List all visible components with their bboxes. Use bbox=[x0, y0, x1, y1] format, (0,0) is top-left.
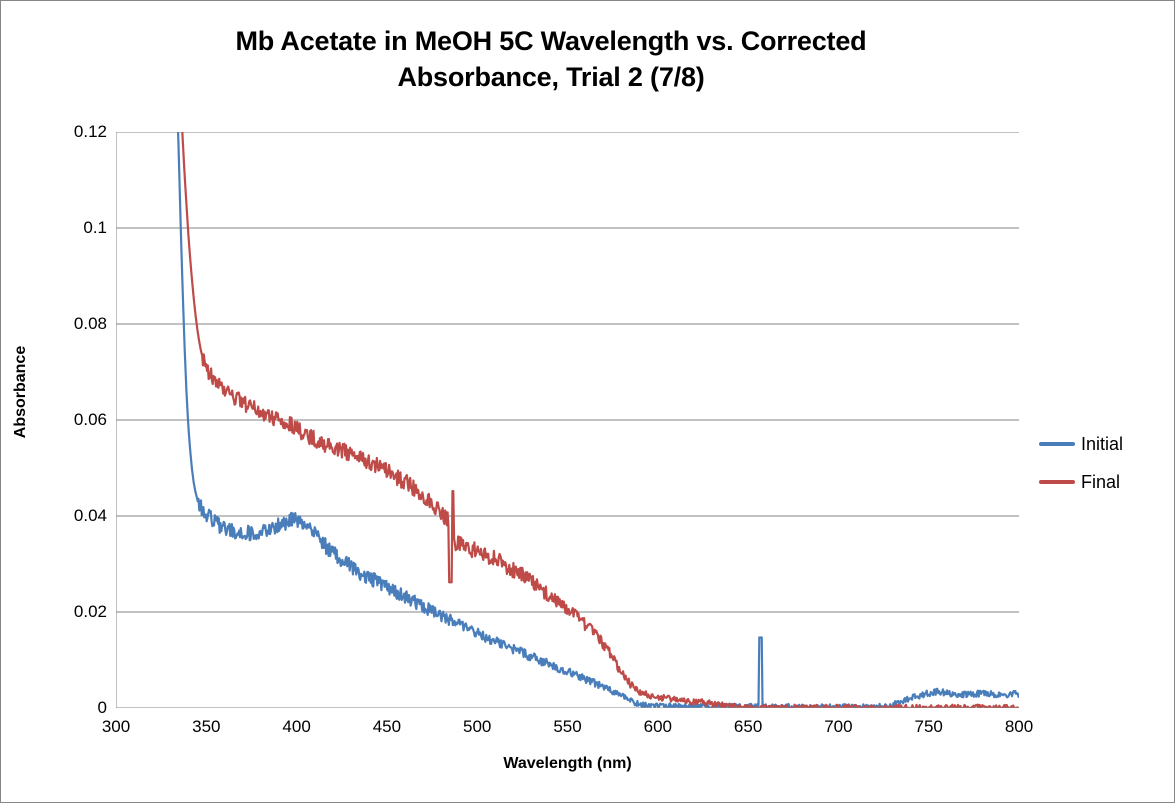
gridlines bbox=[116, 132, 1019, 708]
plot-area bbox=[116, 132, 1019, 708]
x-axis-tick-labels: 300350400450500550600650700750800 bbox=[116, 717, 1019, 743]
x-tick-label: 500 bbox=[437, 717, 517, 737]
legend-label-initial: Initial bbox=[1081, 434, 1123, 455]
legend-swatch-final bbox=[1039, 480, 1075, 484]
x-tick-label: 450 bbox=[347, 717, 427, 737]
y-tick-label: 0.02 bbox=[47, 602, 107, 622]
x-tick-label: 550 bbox=[528, 717, 608, 737]
y-tick-label: 0.08 bbox=[47, 314, 107, 334]
x-tick-label: 600 bbox=[618, 717, 698, 737]
x-tick-label: 650 bbox=[708, 717, 788, 737]
y-axis-tick-labels: 00.020.040.060.080.10.12 bbox=[41, 132, 107, 708]
y-axis-title: Absorbance bbox=[12, 327, 30, 457]
legend-item-initial: Initial bbox=[1039, 425, 1169, 463]
chart-title-line-1: Mb Acetate in MeOH 5C Wavelength vs. Cor… bbox=[121, 23, 981, 59]
legend-item-final: Final bbox=[1039, 463, 1169, 501]
y-tick-label: 0.04 bbox=[47, 506, 107, 526]
x-tick-label: 400 bbox=[257, 717, 337, 737]
chart-title-line-2: Absorbance, Trial 2 (7/8) bbox=[121, 59, 981, 95]
plot-svg bbox=[116, 132, 1019, 708]
x-tick-label: 350 bbox=[166, 717, 246, 737]
legend-label-final: Final bbox=[1081, 472, 1120, 493]
legend-swatch-initial bbox=[1039, 442, 1075, 446]
y-tick-label: 0.12 bbox=[47, 122, 107, 142]
y-tick-label: 0 bbox=[47, 698, 107, 718]
x-tick-label: 800 bbox=[979, 717, 1059, 737]
x-tick-label: 750 bbox=[889, 717, 969, 737]
x-tick-label: 700 bbox=[798, 717, 878, 737]
chart-title: Mb Acetate in MeOH 5C Wavelength vs. Cor… bbox=[121, 23, 981, 95]
x-tick-label: 300 bbox=[76, 717, 156, 737]
y-tick-label: 0.06 bbox=[47, 410, 107, 430]
y-tick-label: 0.1 bbox=[47, 218, 107, 238]
chart-container: Mb Acetate in MeOH 5C Wavelength vs. Cor… bbox=[0, 0, 1175, 803]
chart-legend: Initial Final bbox=[1039, 425, 1169, 501]
x-axis-title: Wavelength (nm) bbox=[116, 755, 1019, 773]
